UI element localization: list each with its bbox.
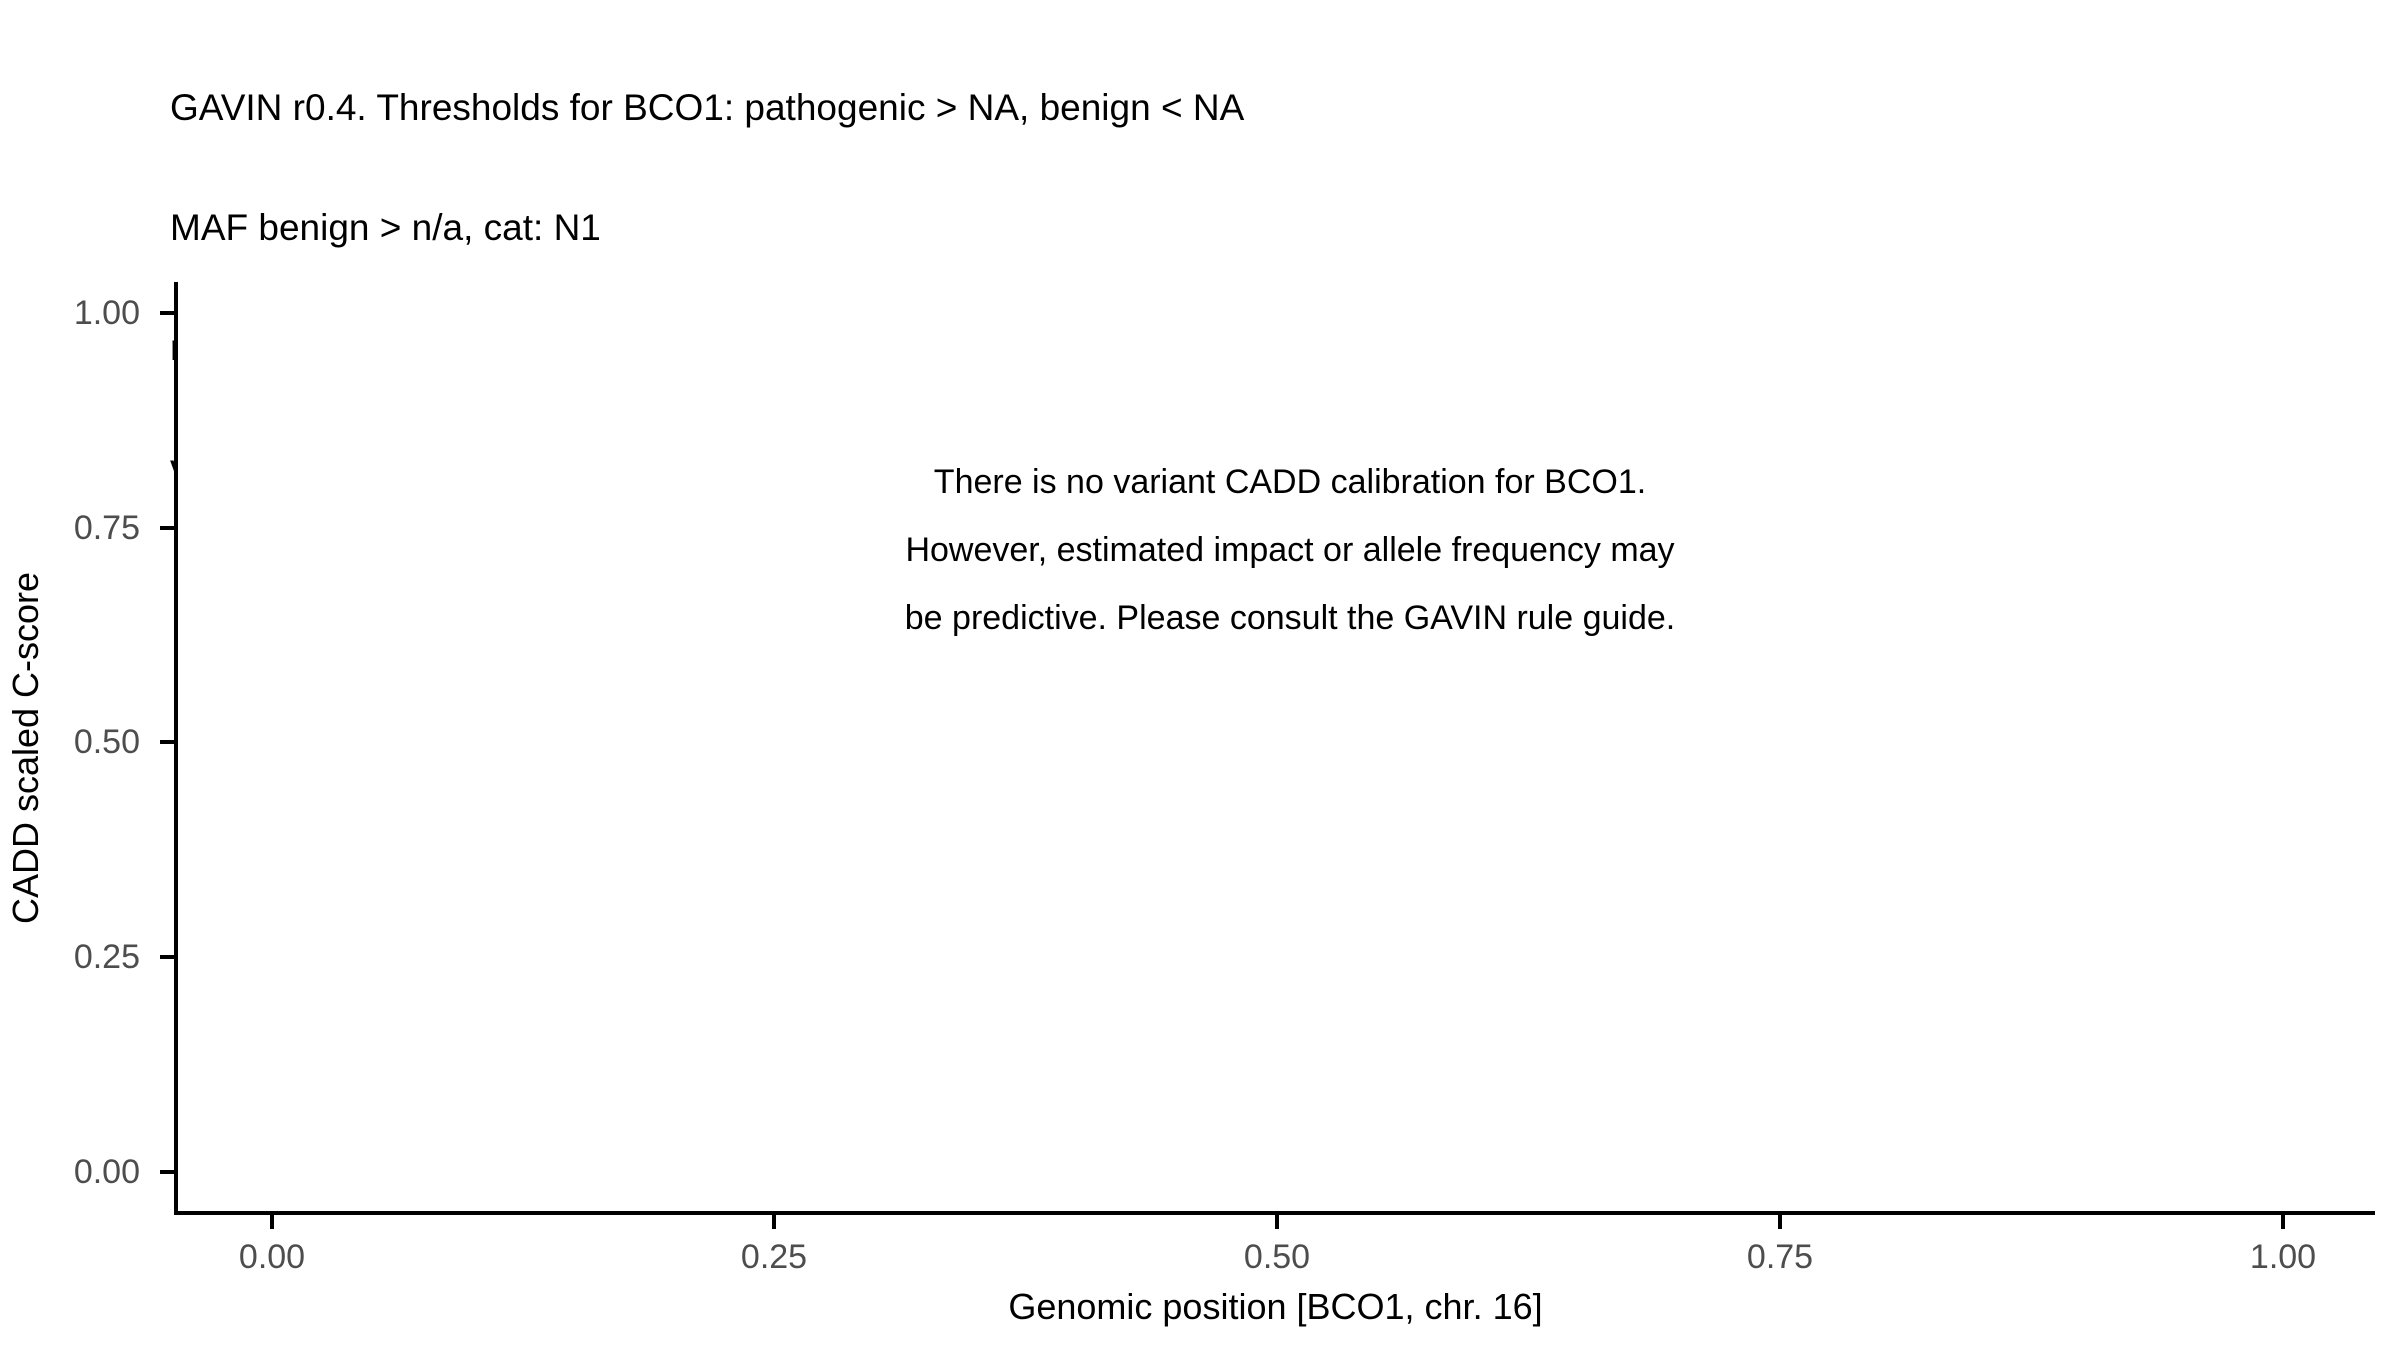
- x-tick-label-1: 0.25: [674, 1240, 874, 1274]
- empty-plot-message-line-1: There is no variant CADD calibration for…: [690, 448, 1890, 516]
- x-tick-mark-2: [1275, 1215, 1279, 1229]
- x-tick-label-2: 0.50: [1177, 1240, 1377, 1274]
- x-tick-mark-0: [270, 1215, 274, 1229]
- y-tick-mark-1: [160, 955, 174, 959]
- y-tick-mark-2: [160, 740, 174, 744]
- x-tick-mark-3: [1778, 1215, 1782, 1229]
- empty-plot-message: There is no variant CADD calibration for…: [690, 448, 1890, 652]
- x-tick-label-4: 1.00: [2183, 1240, 2383, 1274]
- y-axis-line: [174, 282, 178, 1215]
- chart-title-line-1: GAVIN r0.4. Thresholds for BCO1: pathoge…: [170, 88, 2350, 128]
- x-tick-mark-4: [2281, 1215, 2285, 1229]
- plot-panel: There is no variant CADD calibration for…: [176, 282, 2375, 1213]
- y-tick-mark-3: [160, 526, 174, 530]
- x-tick-label-3: 0.75: [1680, 1240, 1880, 1274]
- y-axis-title: CADD scaled C-score: [5, 571, 47, 923]
- chart-figure: GAVIN r0.4. Thresholds for BCO1: pathoge…: [0, 0, 2400, 1350]
- y-axis-title-wrapper: CADD scaled C-score: [0, 282, 52, 1213]
- empty-plot-message-line-2: However, estimated impact or allele freq…: [690, 516, 1890, 584]
- empty-plot-message-line-3: be predictive. Please consult the GAVIN …: [690, 584, 1890, 652]
- chart-title-line-2: MAF benign > n/a, cat: N1: [170, 208, 2350, 248]
- x-tick-label-0: 0.00: [172, 1240, 372, 1274]
- x-tick-mark-1: [772, 1215, 776, 1229]
- y-tick-mark-0: [160, 1170, 174, 1174]
- x-axis-title: Genomic position [BCO1, chr. 16]: [176, 1286, 2375, 1328]
- y-tick-mark-4: [160, 311, 174, 315]
